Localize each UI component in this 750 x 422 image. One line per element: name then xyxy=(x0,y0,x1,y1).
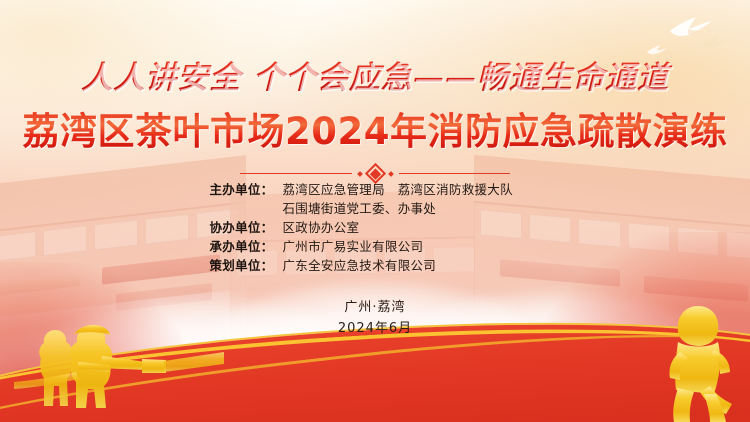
organizer-label: 承办单位： xyxy=(198,237,274,256)
poster-main-title: 荔湾区茶叶市场2024年消防应急疏散演练 xyxy=(0,101,750,155)
divider-dot xyxy=(357,171,363,177)
organizer-list: 主办单位： 荔湾区应急管理局 荔湾区消防救援大队 石围塘街道党工委、办事处 协办… xyxy=(0,180,750,275)
organizer-value: 广东全安应急技术有限公司 xyxy=(274,256,553,275)
divider-line-left xyxy=(240,173,352,174)
diamond-divider xyxy=(240,166,510,181)
organizer-row-continuation: 石围塘街道党工委、办事处 xyxy=(0,199,750,218)
location-text: 广州·荔湾 xyxy=(0,297,750,318)
organizer-value: 广州市广易实业有限公司 xyxy=(274,237,553,256)
place-date-block: 广州·荔湾 2024年6月 xyxy=(0,297,750,339)
organizer-row: 协办单位： 区政协办公室 xyxy=(0,218,750,237)
organizer-label: 主办单位： xyxy=(198,180,274,199)
fire-drill-poster: 人人讲安全 个个会应急——畅通生命通道 荔湾区茶叶市场2024年消防应急疏散演练… xyxy=(0,0,750,422)
organizer-row: 策划单位： 广东全安应急技术有限公司 xyxy=(0,256,750,275)
divider-dot xyxy=(388,171,394,177)
organizer-label: 策划单位： xyxy=(198,256,274,275)
organizer-row: 承办单位： 广州市广易实业有限公司 xyxy=(0,237,750,256)
organizer-value: 荔湾区应急管理局 荔湾区消防救援大队 xyxy=(274,180,553,199)
organizer-value: 区政协办公室 xyxy=(274,218,553,237)
organizer-value-continuation: 石围塘街道党工委、办事处 xyxy=(274,199,553,218)
organizer-label: 协办单位： xyxy=(198,218,274,237)
poster-slogan: 人人讲安全 个个会应急——畅通生命通道 xyxy=(0,52,750,97)
date-text: 2024年6月 xyxy=(0,318,750,339)
divider-line-right xyxy=(399,173,511,174)
organizer-row: 主办单位： 荔湾区应急管理局 荔湾区消防救援大队 xyxy=(0,180,750,199)
